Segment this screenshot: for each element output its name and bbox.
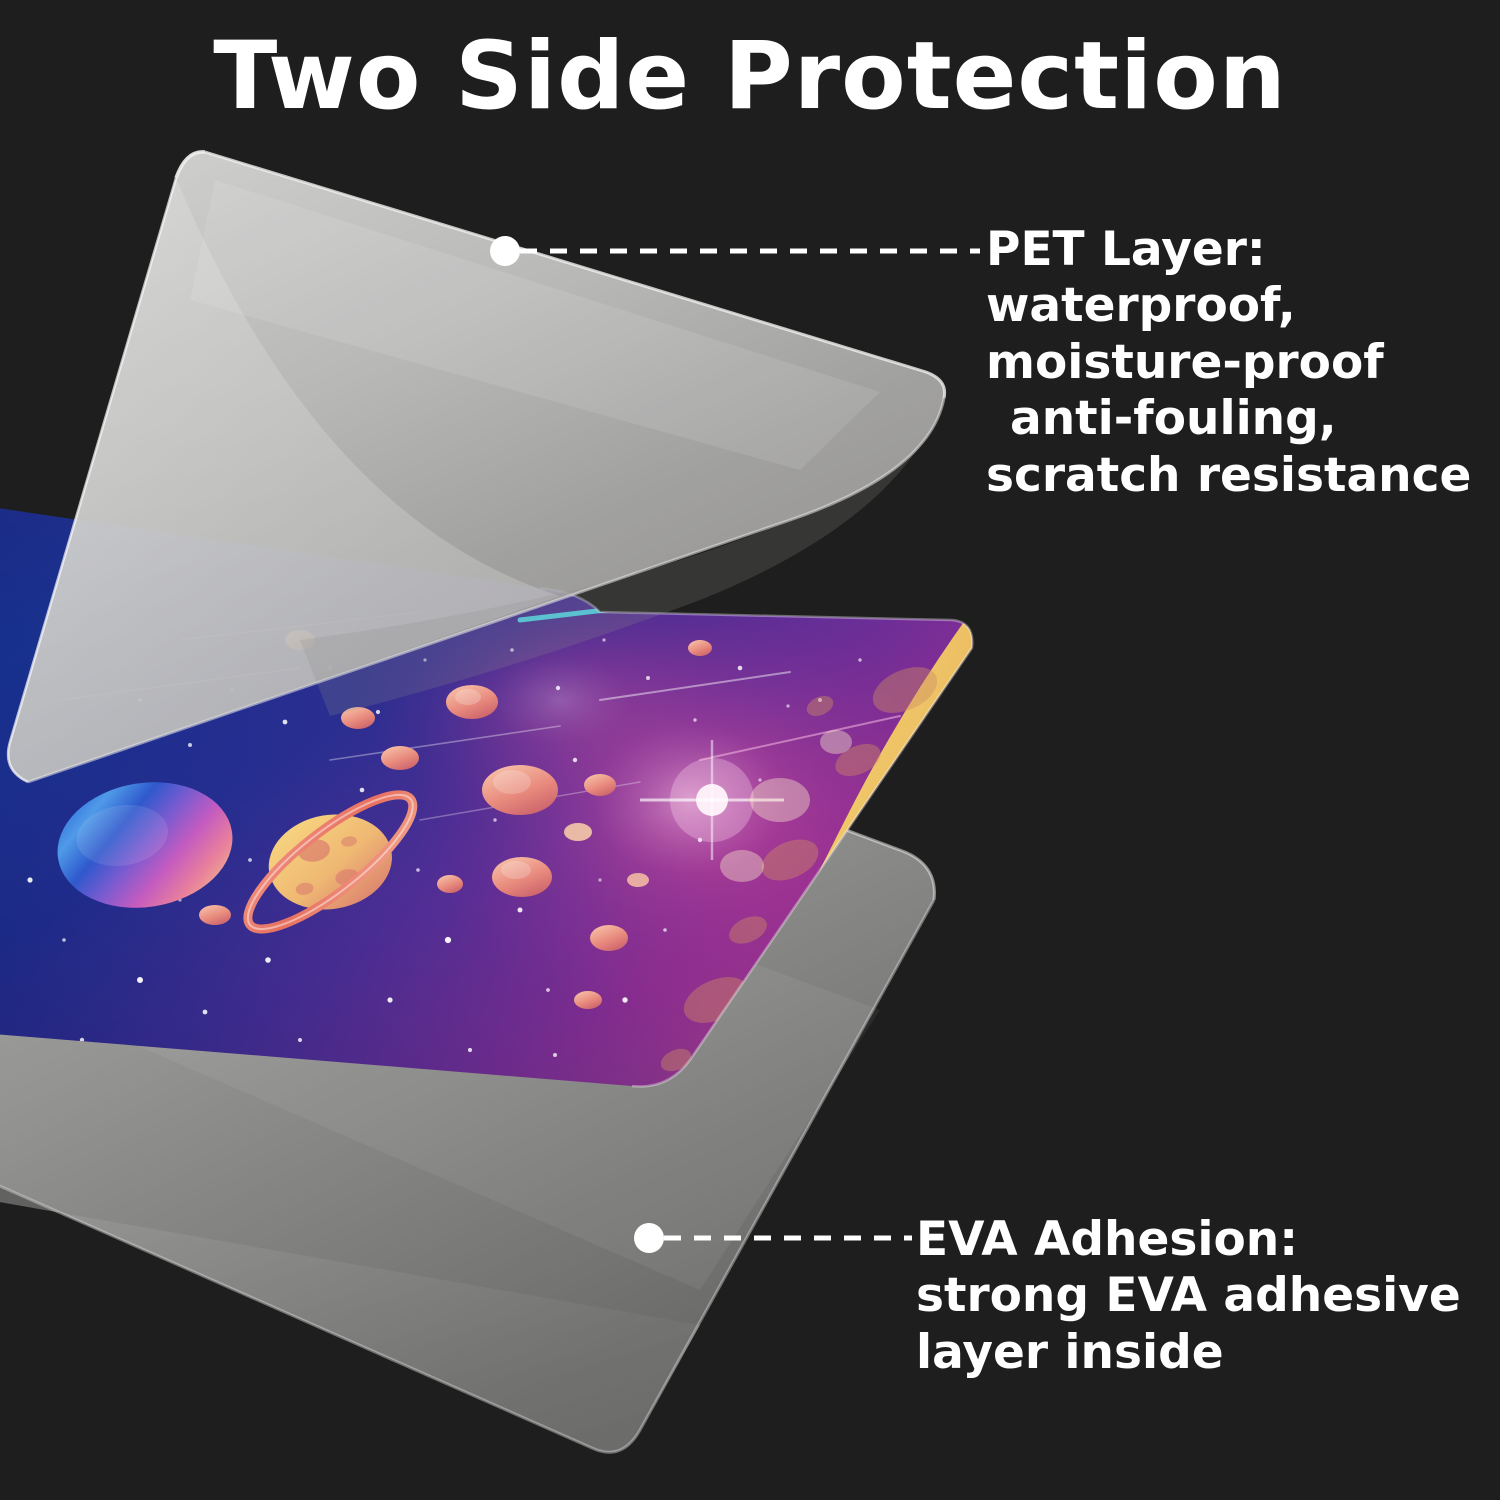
eva-leader-dot-icon: [634, 1223, 664, 1253]
eva-callout-line-3: layer inside: [916, 1325, 1461, 1381]
pet-callout-line-3: moisture-proof: [986, 335, 1471, 391]
eva-callout-line-1: EVA Adhesion:: [916, 1212, 1461, 1268]
product-infographic: Two Side Protection PET Layer: waterproo…: [0, 0, 1500, 1500]
eva-callout-line-2: strong EVA adhesive: [916, 1268, 1461, 1324]
pet-callout-line-2: waterproof,: [986, 278, 1471, 334]
pet-callout-line-4: anti-fouling,: [986, 391, 1471, 447]
pet-leader-dot-icon: [490, 236, 520, 266]
pet-callout-line-5: scratch resistance: [986, 448, 1471, 504]
eva-adhesion-callout: EVA Adhesion: strong EVA adhesive layer …: [916, 1212, 1461, 1381]
pet-layer-callout: PET Layer: waterproof, moisture-proof an…: [986, 222, 1471, 504]
page-title: Two Side Protection: [0, 28, 1500, 127]
pet-callout-line-1: PET Layer:: [986, 222, 1471, 278]
